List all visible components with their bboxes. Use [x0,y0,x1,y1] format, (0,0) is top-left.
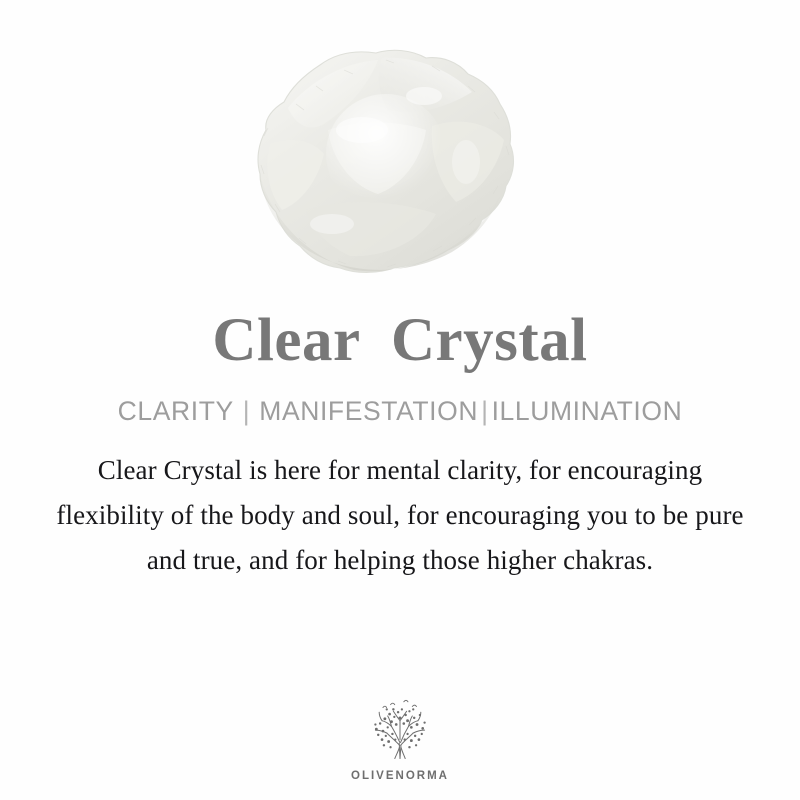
crystal-glow [326,94,446,214]
page-title: Clear Crystal [212,310,587,371]
clear-crystal-stone-icon [236,34,536,294]
keyword-separator-1: | [234,396,259,426]
brand-logo: OLIVENORMA [0,698,800,782]
tree-icon [362,698,438,768]
brand-name: OLIVENORMA [351,770,449,782]
product-image-region [0,0,800,310]
tree-birds [383,700,416,707]
keyword-separator-2: | [478,396,491,426]
crystal-highlight-d [310,214,354,234]
product-info-card: Clear Crystal CLARITY|MANIFESTATION|ILLU… [0,0,800,800]
keyword-list: CLARITY|MANIFESTATION|ILLUMINATION [118,397,683,426]
crystal-highlight-c [452,140,480,184]
keyword-illumination: ILLUMINATION [492,396,683,426]
keyword-clarity: CLARITY [118,396,234,426]
product-description: Clear Crystal is here for mental clarity… [47,448,753,583]
keyword-manifestation: MANIFESTATION [259,396,478,426]
